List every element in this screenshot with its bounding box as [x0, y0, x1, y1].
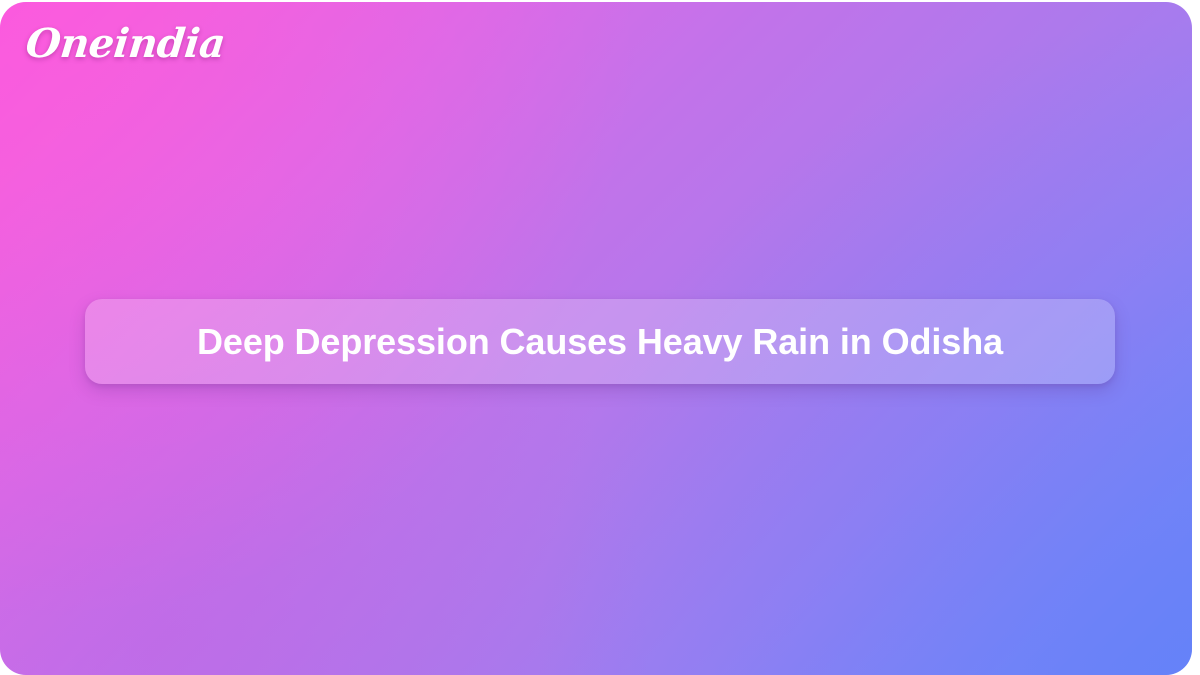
- gradient-card: Oneindia Deep Depression Causes Heavy Ra…: [0, 2, 1192, 675]
- screenshot-stage: Oneindia Deep Depression Causes Heavy Ra…: [0, 0, 1200, 675]
- page-title: Deep Depression Causes Heavy Rain in Odi…: [197, 322, 1003, 362]
- oneindia-logo[interactable]: Oneindia: [24, 24, 227, 64]
- headline-panel: Deep Depression Causes Heavy Rain in Odi…: [85, 299, 1115, 384]
